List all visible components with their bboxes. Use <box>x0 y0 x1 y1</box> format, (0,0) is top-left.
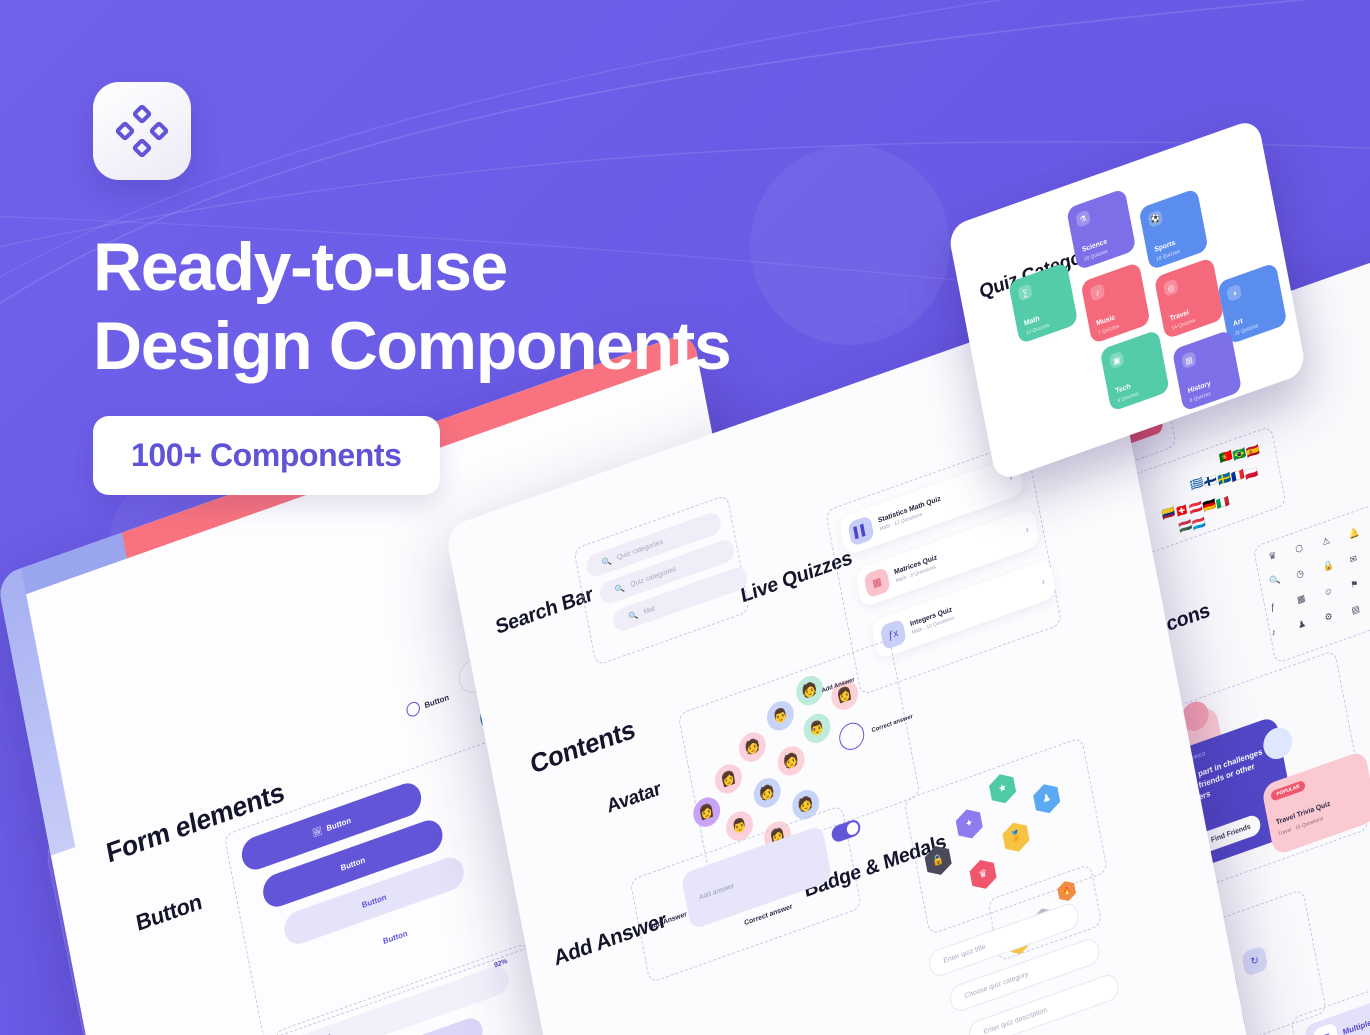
contents-title: Contents <box>528 713 638 781</box>
button-icon-text[interactable]: Button <box>405 690 450 719</box>
button-section-label: Button <box>134 888 204 937</box>
globe-icon: ◎ <box>1163 278 1179 297</box>
palette-icon: ◑ <box>1226 284 1242 303</box>
category-tile-science[interactable]: ⚗ Science 10 Quizzes <box>1066 188 1136 270</box>
category-tile-music[interactable]: ♪ Music 7 Quizzes <box>1080 262 1150 344</box>
button-label: Button <box>361 892 387 910</box>
add-answer-placeholder: Add answer <box>699 882 735 901</box>
ball-icon: ⚽ <box>1147 209 1163 228</box>
circle-icon <box>405 700 421 719</box>
quiz-title-placeholder: Enter quiz title <box>943 943 986 965</box>
button-label: Button <box>424 692 450 710</box>
search-placeholder: Mat <box>643 605 655 616</box>
category-tile-travel[interactable]: ◎ Travel 14 Quizzes <box>1154 257 1224 339</box>
chevron-right-icon[interactable]: › <box>1041 576 1046 587</box>
flag-icon: 🇪🇸 <box>1245 443 1260 460</box>
quiz-type-label: Multiple Choice <box>1342 1008 1370 1035</box>
search-icon: 🔍 <box>614 582 625 594</box>
search-icon: 🔍 <box>628 610 639 622</box>
flag-icon: 🇵🇱 <box>1244 465 1259 482</box>
category-name: Art <box>1233 318 1244 328</box>
category-tile-tech[interactable]: ▣ Tech 9 Quizzes <box>1100 329 1170 411</box>
components-count-badge: 100+ Components <box>93 416 440 495</box>
quiz-description-placeholder: Enter quiz description <box>983 1006 1048 1035</box>
note-icon: ♪ <box>1089 283 1105 302</box>
page-title: Ready-to-use Design Components <box>93 228 873 386</box>
find-friends-label: Find Friends <box>1210 823 1251 844</box>
quiz-category-placeholder: Choose quiz category <box>964 970 1029 1000</box>
search-bar-label: Search Bar <box>494 583 595 640</box>
bar-chart-icon: ▌▌ <box>847 515 874 547</box>
image-icon: 🖼 <box>311 825 322 837</box>
poster-canvas: Ready-to-use Design Components 100+ Comp… <box>0 0 1370 1035</box>
search-icon: 🔍 <box>601 555 612 567</box>
four-diamonds-logo-icon <box>116 105 168 157</box>
components-count-label: 100+ Components <box>131 437 402 473</box>
button-label: Button <box>326 815 352 833</box>
chip-icon: ▣ <box>1109 351 1125 370</box>
math-icon: ∑ <box>1017 283 1033 302</box>
flag-icon: 🇮🇹 <box>1215 494 1230 511</box>
flask-icon: ⚗ <box>1075 209 1091 228</box>
avatar-label: Avatar <box>605 778 663 819</box>
grid-icon: ▦ <box>864 567 891 599</box>
app-logo <box>93 82 191 180</box>
sheet-left-accent <box>0 568 75 855</box>
grid-icon: ▦ <box>1312 1022 1339 1035</box>
button-label: Button <box>340 855 366 873</box>
chevron-right-icon[interactable]: › <box>1025 524 1030 535</box>
category-tile-sports[interactable]: ⚽ Sports 18 Quizzes <box>1138 188 1208 270</box>
hero-section: Ready-to-use Design Components 100+ Comp… <box>93 82 873 495</box>
card-tag: POPULAR <box>1270 780 1306 802</box>
book-icon: ▤ <box>1181 351 1197 370</box>
button-label: Button <box>382 928 408 946</box>
